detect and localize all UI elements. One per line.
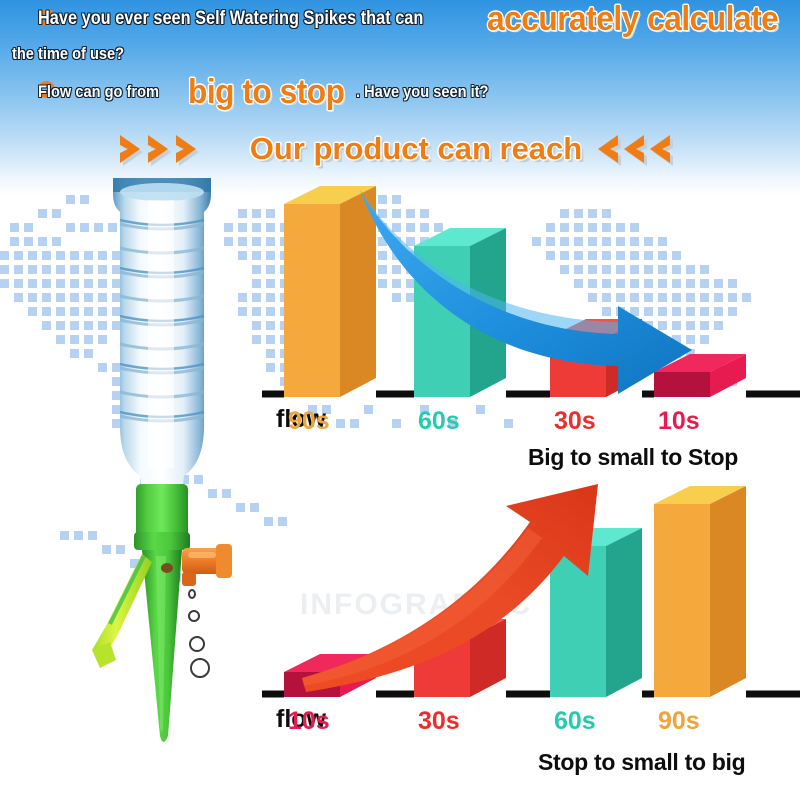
water-bottle-shape [113, 178, 211, 492]
chart-stop-to-small-to-big: flow 10s 30s 60s 90s [262, 482, 800, 732]
bullet-line-2: Flow can go from big to stop . Have you … [0, 74, 800, 110]
bullet-2-text-part-2: . Have you seen it? [356, 82, 488, 102]
banner-title: Our product can reach [250, 131, 582, 167]
label-90s: 90s [658, 707, 700, 732]
label-30s: 30s [554, 407, 596, 432]
orange-valve-knob [182, 544, 232, 586]
bar-90s [654, 486, 746, 697]
bullet-line-1: Have you ever seen Self Watering Spikes … [0, 0, 800, 38]
bullet-1-highlight: accurately calculate [487, 0, 778, 39]
product-reach-banner: Our product can reach [0, 126, 800, 172]
headline-block: Have you ever seen Self Watering Spikes … [0, 0, 800, 110]
category-labels: flow 10s 30s 60s 90s [276, 705, 700, 732]
category-labels: flow 90s 60s 30s 10s [276, 405, 700, 432]
bullet-2-highlight: big to stop [188, 73, 344, 112]
label-10s: 10s [288, 707, 330, 732]
label-30s: 30s [418, 707, 460, 732]
green-spike-shape [134, 484, 190, 742]
chevrons-right-icon [118, 129, 236, 169]
label-60s: 60s [554, 707, 596, 732]
bullet-1-continuation-text: the time of use? [12, 44, 124, 64]
product-image [70, 176, 280, 776]
label-10s: 10s [658, 407, 700, 432]
bullet-1-text-part-1: Have you ever seen Self Watering Spikes … [38, 8, 423, 30]
bar-90s [284, 186, 376, 397]
chevrons-left-icon [596, 129, 682, 169]
poster-canvas: INFOGRAPHIC Have you ever seen Self Wate… [0, 0, 800, 800]
yellow-support-leg [92, 554, 152, 668]
bullet-2-text-part-1: Flow can go from [38, 82, 159, 102]
label-60s: 60s [418, 407, 460, 432]
bullet-line-1-continuation: the time of use? [0, 38, 800, 70]
chart-1-caption: Big to small to Stop [528, 444, 738, 471]
chart-big-to-small-to-stop: flow 90s 60s 30s 10s [262, 182, 800, 432]
label-90s: 90s [288, 407, 330, 432]
water-drops [189, 590, 209, 677]
descending-arrow-icon [360, 190, 692, 394]
chart-2-caption: Stop to small to big [538, 749, 745, 776]
